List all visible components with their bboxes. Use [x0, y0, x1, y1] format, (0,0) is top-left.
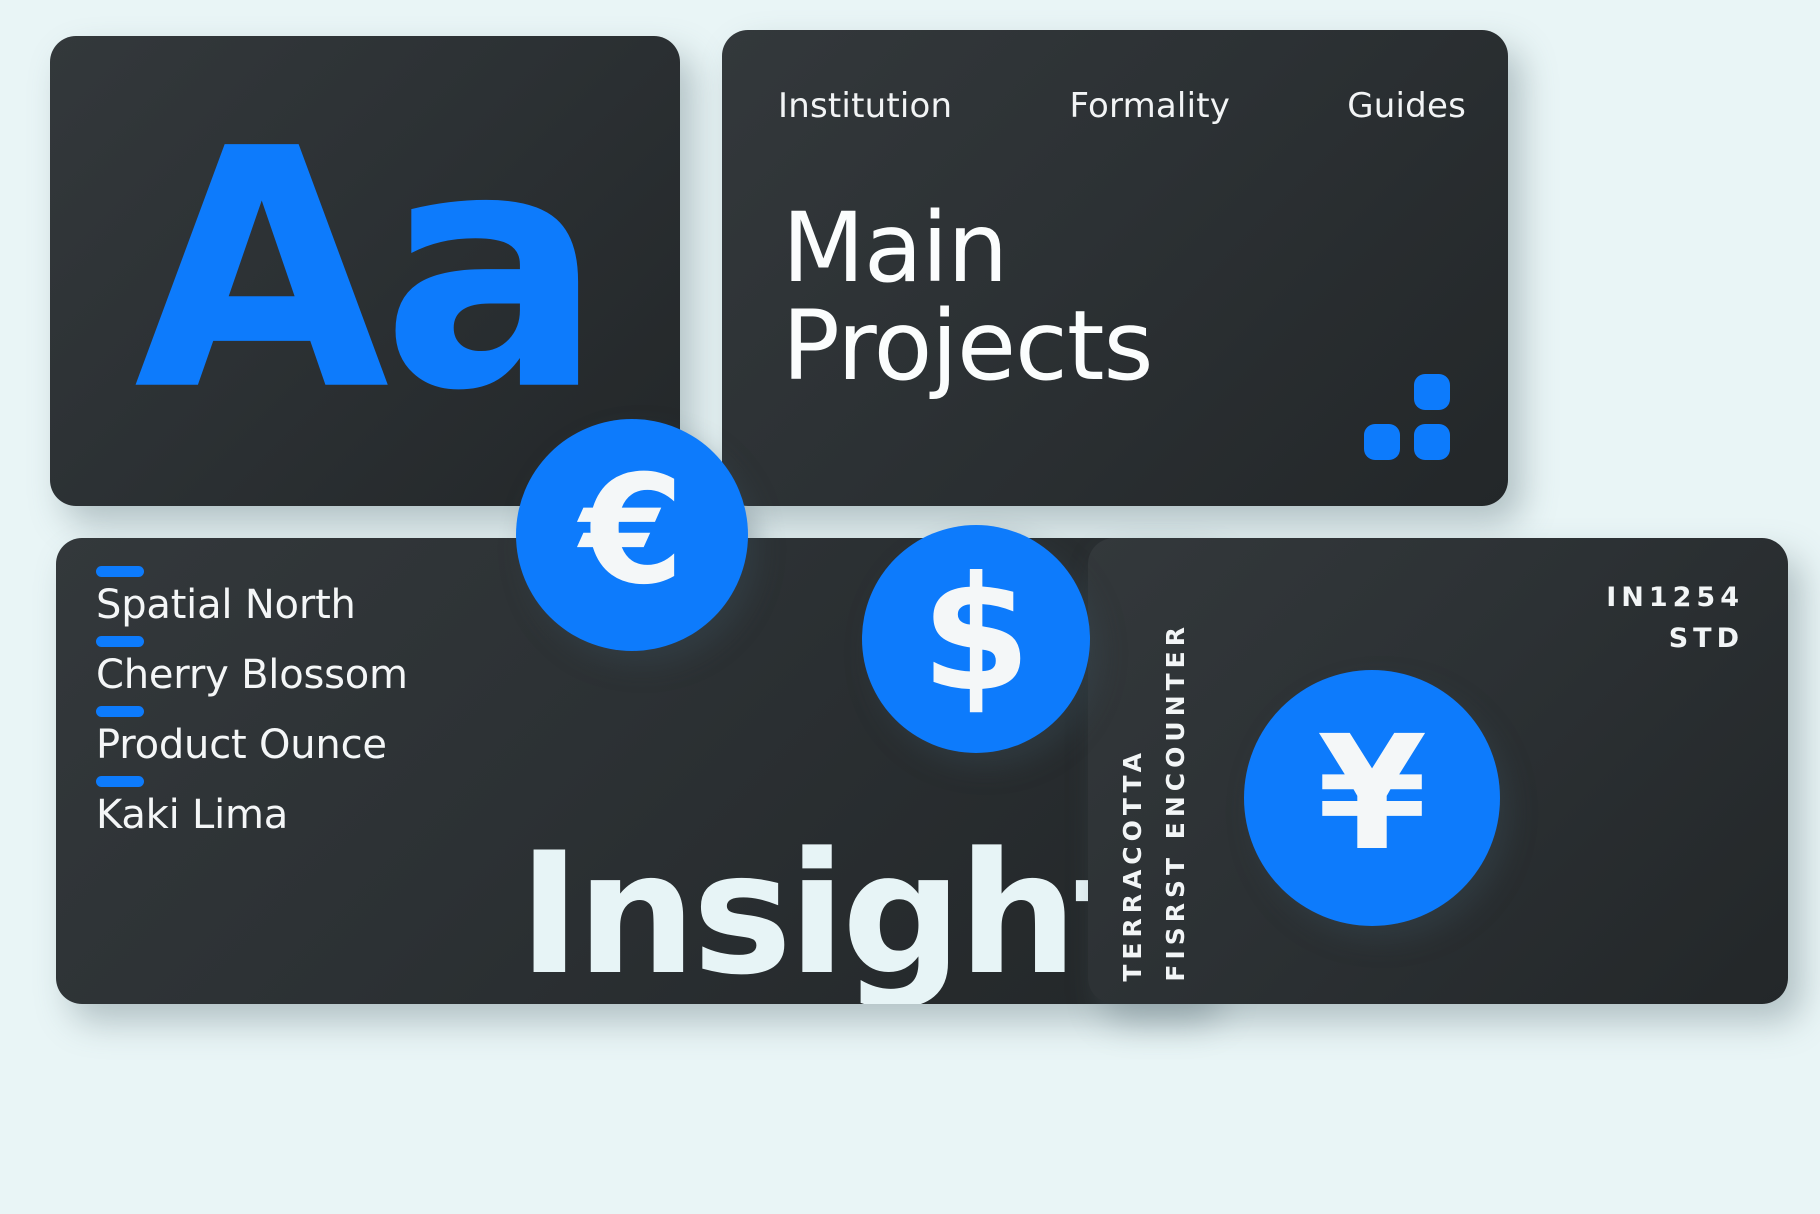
dash-icon [96, 636, 144, 647]
nav-item-guides[interactable]: Guides [1347, 86, 1466, 126]
style-code: IN1254 STD [1606, 578, 1744, 659]
dollar-icon: $ [921, 556, 1031, 714]
square-bottom-right [1414, 424, 1450, 460]
list-item-label: Spatial North [96, 584, 408, 626]
list-item-label: Kaki Lima [96, 794, 408, 836]
list-item[interactable]: Kaki Lima [96, 776, 408, 836]
square-top-right [1414, 374, 1450, 410]
yen-icon: ¥ [1317, 715, 1427, 873]
list-item[interactable]: Cherry Blossom [96, 636, 408, 696]
dash-icon [96, 706, 144, 717]
list-item[interactable]: Product Ounce [96, 706, 408, 766]
nav-item-institution[interactable]: Institution [778, 86, 952, 126]
main-projects-title: Main Projects [782, 200, 1152, 396]
style-code-line-1: IN1254 [1606, 578, 1744, 619]
list-item-label: Cherry Blossom [96, 654, 408, 696]
nav-item-formality[interactable]: Formality [1069, 86, 1230, 126]
list-item-label: Product Ounce [96, 724, 408, 766]
euro-icon: € [580, 456, 684, 606]
vertical-labels: TERRACOTTA FISRST ENCOUNTER [1118, 652, 1204, 982]
vertical-label-terracotta: TERRACOTTA [1118, 748, 1147, 982]
square-bottom-left [1364, 424, 1400, 460]
yen-currency-badge[interactable]: ¥ [1244, 670, 1500, 926]
three-squares-icon [1364, 374, 1450, 460]
vertical-label-first-encounter: FISRST ENCOUNTER [1161, 622, 1190, 982]
euro-currency-badge[interactable]: € [516, 419, 748, 651]
design-showcase-canvas: Aa Institution Formality Guides Main Pro… [0, 0, 1820, 1214]
dash-icon [96, 566, 144, 577]
card-nav: Institution Formality Guides [778, 86, 1466, 126]
main-projects-card: Institution Formality Guides Main Projec… [722, 30, 1508, 506]
feature-list: Spatial North Cherry Blossom Product Oun… [96, 566, 408, 846]
insight-wordmark: Insight [518, 830, 1150, 998]
style-code-line-2: STD [1606, 619, 1744, 660]
aa-specimen-glyph: Aa [50, 136, 680, 407]
dash-icon [96, 776, 144, 787]
list-item[interactable]: Spatial North [96, 566, 408, 626]
dollar-currency-badge[interactable]: $ [862, 525, 1090, 753]
